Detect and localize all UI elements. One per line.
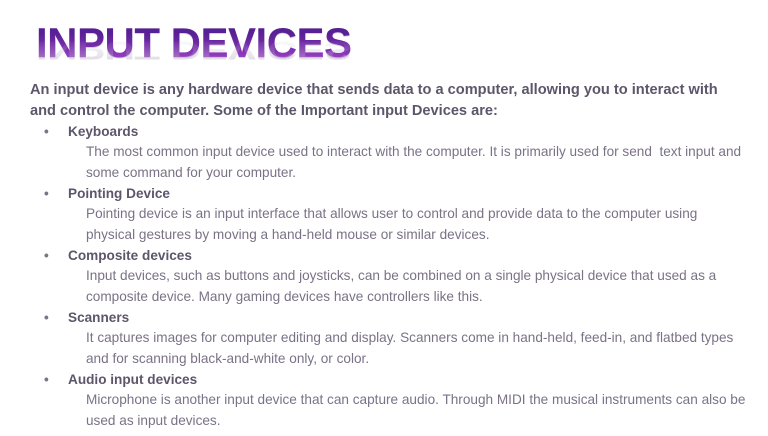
list-item-heading-label: Composite devices — [68, 248, 192, 263]
list-item-description: Pointing device is an input interface th… — [30, 204, 750, 245]
list-item-heading: • Keyboards — [30, 122, 750, 142]
page-title: INPUT DEVICES — [36, 22, 736, 64]
list-item: • Composite devices Input devices, such … — [30, 246, 750, 307]
list-item-description: It captures images for computer editing … — [30, 328, 750, 369]
list-item: • Scanners It captures images for comput… — [30, 308, 750, 369]
list-item: • Audio input devices Microphone is anot… — [30, 370, 750, 431]
list-item-heading: • Scanners — [30, 308, 750, 328]
list-item-heading-label: Audio input devices — [68, 372, 197, 387]
slide-title-block: INPUT DEVICES INPUT DEVICES — [36, 22, 736, 84]
bullet-dot-icon: • — [44, 184, 49, 204]
bullet-dot-icon: • — [44, 122, 49, 142]
list-item-description: Microphone is another input device that … — [30, 390, 750, 431]
list-item-heading: • Composite devices — [30, 246, 750, 266]
device-list: • Keyboards The most common input device… — [30, 122, 750, 432]
slide-canvas: INPUT DEVICES INPUT DEVICES An input dev… — [0, 0, 768, 436]
bullet-dot-icon: • — [44, 246, 49, 266]
bullet-dot-icon: • — [44, 370, 49, 390]
list-item-description: Input devices, such as buttons and joyst… — [30, 266, 750, 307]
list-item-heading: • Pointing Device — [30, 184, 750, 204]
intro-paragraph: An input device is any hardware device t… — [30, 80, 742, 121]
bullet-dot-icon: • — [44, 308, 49, 328]
list-item-description: The most common input device used to int… — [30, 142, 750, 183]
list-item: • Pointing Device Pointing device is an … — [30, 184, 750, 245]
list-item-heading: • Audio input devices — [30, 370, 750, 390]
list-item-heading-label: Keyboards — [68, 124, 138, 139]
list-item: • Keyboards The most common input device… — [30, 122, 750, 183]
list-item-heading-label: Pointing Device — [68, 186, 170, 201]
list-item-heading-label: Scanners — [68, 310, 129, 325]
